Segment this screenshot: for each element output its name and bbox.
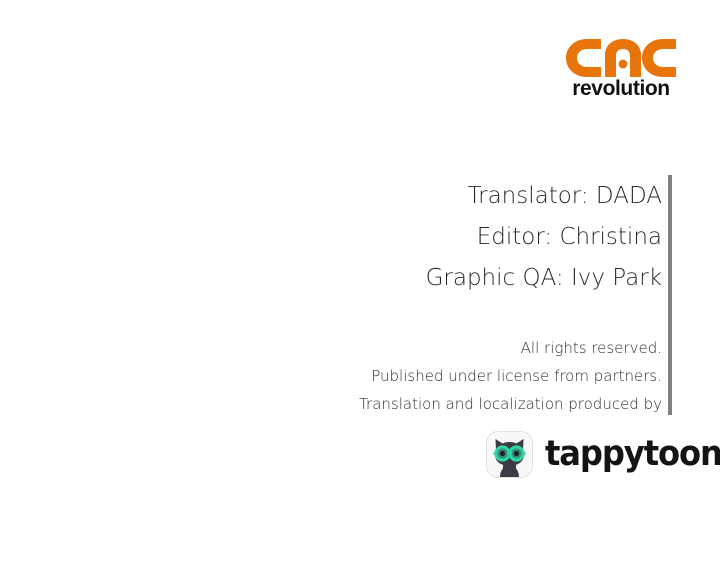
legal-notice: All rights reserved. Published under lic… [202,334,662,418]
tappytoon-wordmark: tappytoon [545,437,720,472]
credit-graphic-qa: Graphic QA: Ivy Park [242,258,662,299]
legal-localization: Translation and localization produced by [202,390,662,418]
tappytoon-logo: tappytoon [486,430,720,478]
publisher-logo: revolution [565,38,677,104]
credits-list: Translator: DADA Editor: Christina Graph… [242,176,662,299]
legal-license: Published under license from partners. [202,362,662,390]
publisher-logo-wordmark: revolution [565,78,677,99]
vertical-divider [668,175,672,415]
credit-editor: Editor: Christina [242,217,662,258]
tappytoon-cat-icon [486,431,533,478]
credit-translator: Translator: DADA [242,176,662,217]
cnc-wordmark-icon [565,38,677,78]
legal-rights-reserved: All rights reserved. [202,334,662,362]
credits-page: revolution Translator: DADA Editor: Chri… [0,0,720,579]
